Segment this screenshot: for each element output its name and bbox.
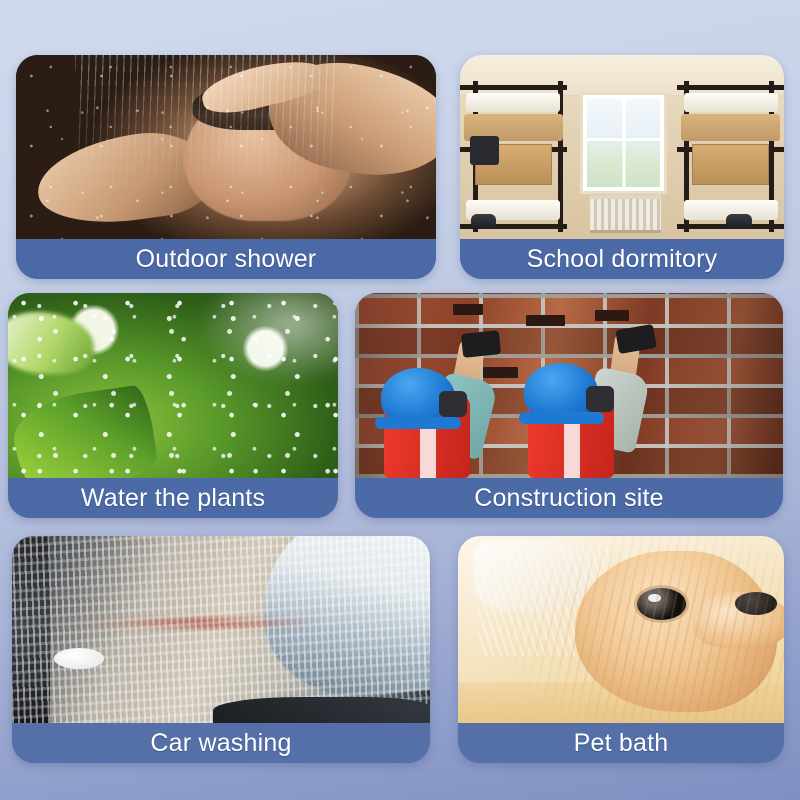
water-droplets-overlay [8, 293, 338, 478]
card-image-school-dormitory [460, 55, 784, 239]
car-foam-overlay [12, 536, 430, 723]
card-label-construction-site: Construction site [355, 478, 783, 518]
dorm-window-shape [583, 95, 664, 191]
scene-construction-site [355, 293, 783, 478]
car-dark-bottom-shape [213, 697, 430, 723]
card-water-the-plants[interactable]: Water the plants [8, 293, 338, 518]
dorm-bunk-right-shape [677, 81, 784, 232]
scenario-grid: Outdoor shower [0, 0, 800, 800]
card-label-water-the-plants: Water the plants [8, 478, 338, 518]
scene-school-dormitory [460, 55, 784, 239]
scene-outdoor-shower [16, 55, 436, 239]
dorm-wall-phone-shape [470, 136, 499, 165]
water-droplets-overlay [16, 55, 436, 239]
card-image-car-washing [12, 536, 430, 723]
card-car-washing[interactable]: Car washing [12, 536, 430, 763]
scene-pet-bath [458, 536, 784, 723]
card-label-car-washing: Car washing [12, 723, 430, 763]
card-construction-site[interactable]: Construction site [355, 293, 783, 518]
worker-left-shape [372, 334, 518, 478]
car-foam-blob-shape [54, 648, 104, 669]
card-image-pet-bath [458, 536, 784, 723]
card-outdoor-shower[interactable]: Outdoor shower [16, 55, 436, 279]
card-label-pet-bath: Pet bath [458, 723, 784, 763]
card-school-dormitory[interactable]: School dormitory [460, 55, 784, 279]
card-label-outdoor-shower: Outdoor shower [16, 239, 436, 279]
worker-right-shape [509, 330, 663, 478]
card-image-construction-site [355, 293, 783, 478]
dog-fur-overlay [458, 536, 784, 723]
card-pet-bath[interactable]: Pet bath [458, 536, 784, 763]
dorm-radiator-shape [590, 195, 661, 233]
card-image-outdoor-shower [16, 55, 436, 239]
scene-car-washing [12, 536, 430, 723]
scene-water-the-plants [8, 293, 338, 478]
card-image-water-the-plants [8, 293, 338, 478]
card-label-school-dormitory: School dormitory [460, 239, 784, 279]
